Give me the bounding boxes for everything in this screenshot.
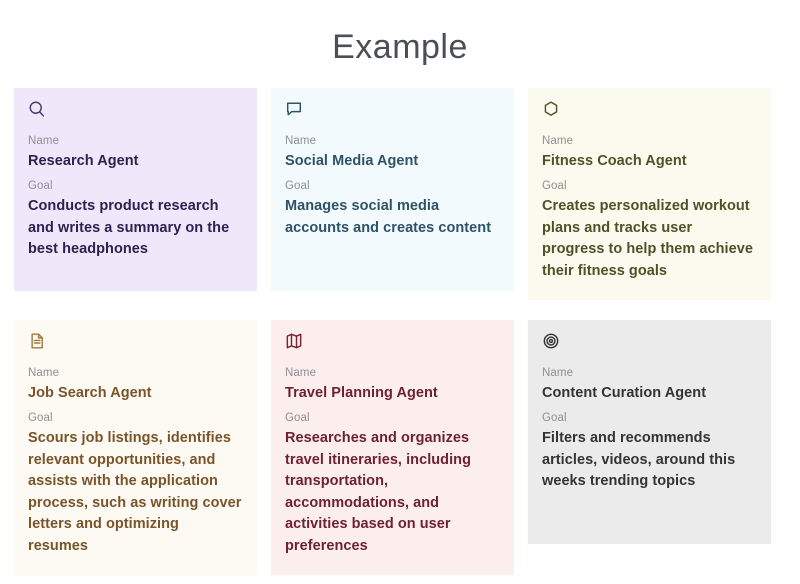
- agent-name-value: Travel Planning Agent: [285, 383, 500, 403]
- agent-name-value: Job Search Agent: [28, 383, 243, 403]
- agent-name-value: Fitness Coach Agent: [542, 151, 757, 171]
- document-icon: [28, 332, 243, 358]
- agent-card-content-curation-agent[interactable]: NameContent Curation AgentGoalFilters an…: [528, 320, 771, 544]
- goal-label: Goal: [28, 409, 243, 427]
- goal-label: Goal: [285, 409, 500, 427]
- agent-card-job-search-agent[interactable]: NameJob Search AgentGoalScours job listi…: [14, 320, 257, 575]
- agent-goal-value: Conducts product research and writes a s…: [28, 196, 243, 261]
- agent-goal-value: Filters and recommends articles, videos,…: [542, 428, 757, 493]
- name-label: Name: [285, 132, 500, 150]
- name-label: Name: [542, 132, 757, 150]
- agent-card-research-agent[interactable]: NameResearch AgentGoalConducts product r…: [14, 88, 257, 291]
- page-title: Example: [0, 0, 800, 77]
- agent-name-value: Social Media Agent: [285, 151, 500, 171]
- chat-bubble-icon: [285, 100, 500, 126]
- agent-goal-value: Researches and organizes travel itinerar…: [285, 428, 500, 557]
- agent-card-travel-planning-agent[interactable]: NameTravel Planning AgentGoalResearches …: [271, 320, 514, 575]
- agent-goal-value: Creates personalized workout plans and t…: [542, 196, 757, 282]
- goal-label: Goal: [285, 177, 500, 195]
- goal-label: Goal: [542, 177, 757, 195]
- name-label: Name: [28, 364, 243, 382]
- search-icon: [28, 100, 243, 126]
- agent-card-social-media-agent[interactable]: NameSocial Media AgentGoalManages social…: [271, 88, 514, 291]
- hexagon-icon: [542, 100, 757, 126]
- agent-goal-value: Manages social media accounts and create…: [285, 196, 500, 239]
- goal-label: Goal: [542, 409, 757, 427]
- name-label: Name: [542, 364, 757, 382]
- target-icon: [542, 332, 757, 358]
- map-icon: [285, 332, 500, 358]
- goal-label: Goal: [28, 177, 243, 195]
- agent-name-value: Content Curation Agent: [542, 383, 757, 403]
- agent-card-grid: NameResearch AgentGoalConducts product r…: [14, 88, 772, 575]
- agent-goal-value: Scours job listings, identifies relevant…: [28, 428, 243, 557]
- agent-name-value: Research Agent: [28, 151, 243, 171]
- agent-card-fitness-coach-agent[interactable]: NameFitness Coach AgentGoalCreates perso…: [528, 88, 771, 300]
- name-label: Name: [285, 364, 500, 382]
- example-agents-page: Example NameResearch AgentGoalConducts p…: [0, 0, 800, 584]
- name-label: Name: [28, 132, 243, 150]
